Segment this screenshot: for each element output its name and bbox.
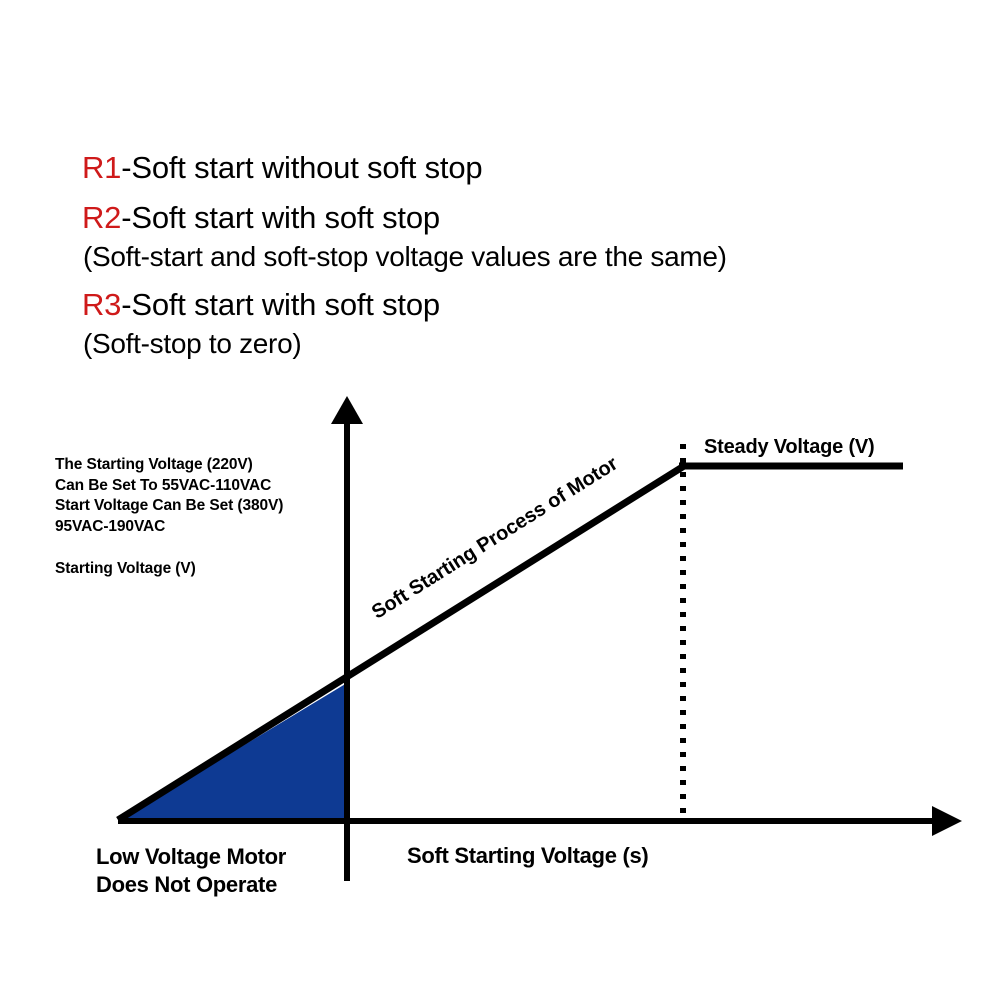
low-voltage-motor-label-line2: Does Not Operate: [96, 871, 286, 899]
soft-start-ramp-line: [118, 466, 684, 820]
low-voltage-motor-label-line1: Low Voltage Motor: [96, 843, 286, 871]
diagram-canvas: R1-Soft start without soft stop R2-Soft …: [0, 0, 1001, 1000]
low-voltage-motor-label: Low Voltage Motor Does Not Operate: [96, 843, 286, 898]
x-axis-label: Soft Starting Voltage (s): [407, 843, 648, 869]
steady-voltage-label: Steady Voltage (V): [704, 436, 875, 459]
y-axis-arrowhead: [331, 396, 363, 424]
x-axis-arrowhead: [932, 806, 962, 836]
